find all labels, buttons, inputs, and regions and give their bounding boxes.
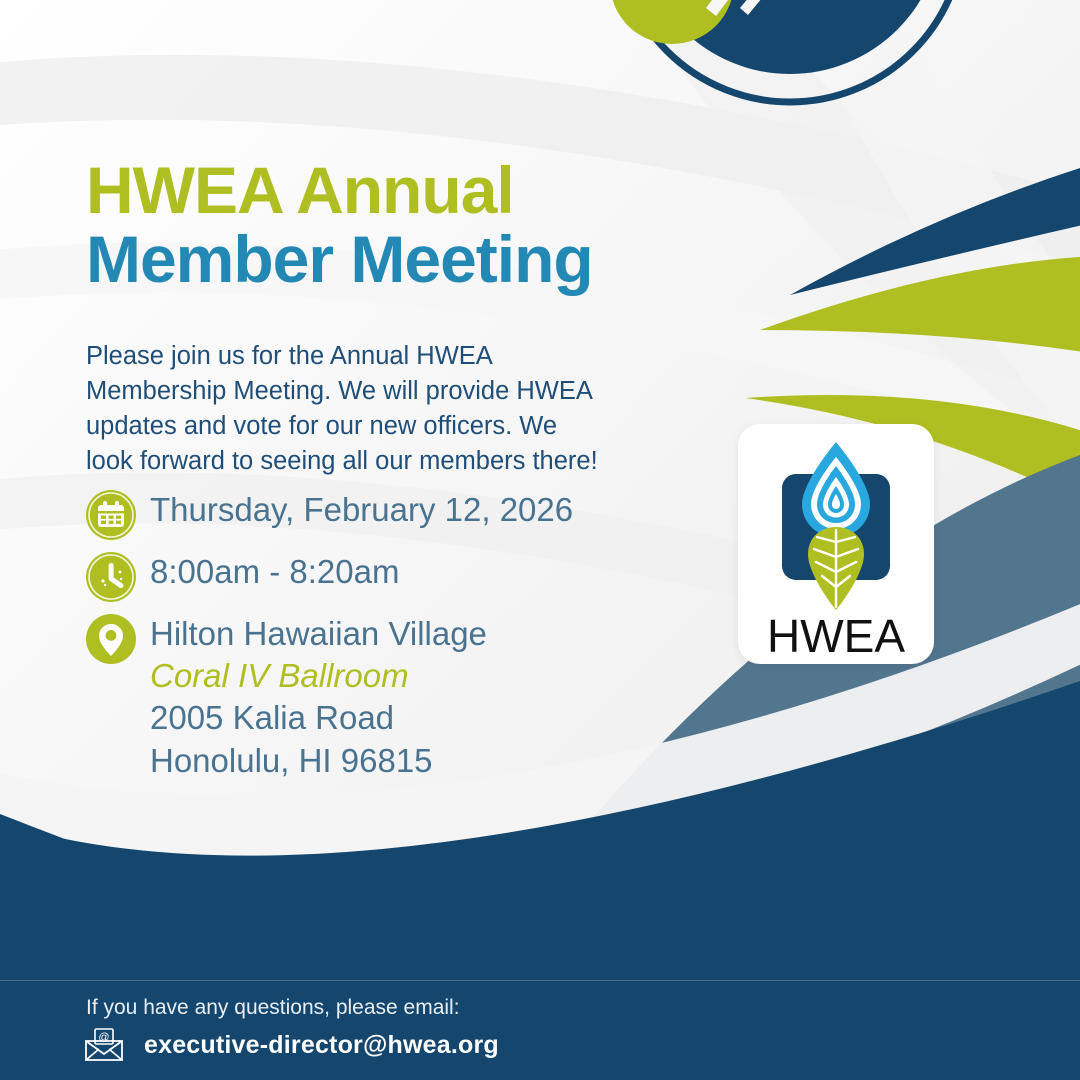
footer-question: If you have any questions, please email:	[86, 996, 460, 1020]
detail-date-text: Thursday, February 12, 2026	[150, 486, 573, 531]
detail-row-time: 8:00am - 8:20am	[84, 548, 724, 602]
poster-canvas: HWEA Annual Member Meeting Please join u…	[0, 0, 1080, 1080]
envelope-at-icon: @	[82, 1028, 126, 1062]
venue-street: 2005 Kalia Road	[150, 697, 487, 739]
body-line-1: Please join us for the Annual HWEA	[86, 339, 686, 374]
detail-time-text: 8:00am - 8:20am	[150, 548, 399, 593]
footer-email-address[interactable]: executive-director@hwea.org	[144, 1031, 499, 1060]
footer-divider	[0, 980, 1080, 981]
water-droplet-icon	[802, 442, 870, 537]
body-paragraph: Please join us for the Annual HWEA Membe…	[86, 339, 686, 480]
clock-icon	[84, 550, 138, 604]
body-line-3: updates and vote for our new officers. W…	[86, 409, 686, 444]
venue-city: Honolulu, HI 96815	[150, 740, 487, 782]
leaf-icon	[808, 527, 864, 610]
map-pin-icon	[84, 612, 138, 666]
venue-name: Hilton Hawaiian Village	[150, 613, 487, 655]
hwea-logo: HWEA	[738, 424, 934, 664]
detail-row-location: Hilton Hawaiian Village Coral IV Ballroo…	[84, 610, 724, 782]
body-line-4: look forward to seeing all our members t…	[86, 444, 686, 479]
calendar-icon	[84, 488, 138, 542]
footer-email-block[interactable]: @ executive-director@hwea.org	[82, 1028, 499, 1062]
page-title: HWEA Annual Member Meeting	[86, 156, 806, 293]
event-details: Thursday, February 12, 2026	[84, 486, 724, 790]
detail-row-date: Thursday, February 12, 2026	[84, 486, 724, 540]
body-line-2: Membership Meeting. We will provide HWEA	[86, 374, 686, 409]
title-line-1: HWEA Annual	[86, 156, 806, 225]
venue-room: Coral IV Ballroom	[150, 655, 487, 697]
footer: If you have any questions, please email:…	[0, 980, 1080, 1080]
detail-location-text: Hilton Hawaiian Village Coral IV Ballroo…	[150, 610, 487, 782]
title-line-2: Member Meeting	[86, 225, 806, 294]
logo-wordmark: HWEA	[767, 610, 905, 662]
